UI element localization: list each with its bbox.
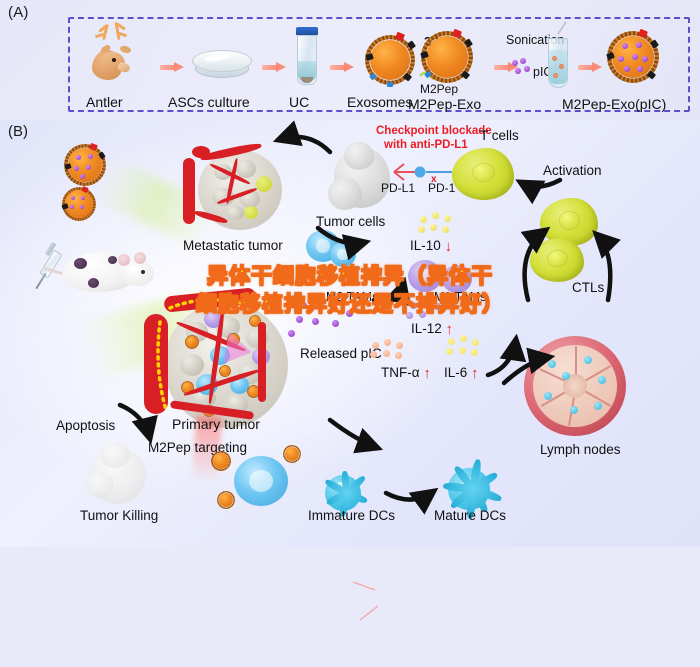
cytokine-dot — [422, 298, 429, 305]
ctl-cell — [530, 238, 584, 282]
exosome-particle — [362, 32, 418, 88]
metastatic-tumor-label: Metastatic tumor — [183, 238, 283, 254]
pic-released-dot — [330, 304, 337, 311]
tumor-cells-cluster — [344, 142, 374, 170]
tumor-cells-cluster — [328, 178, 362, 210]
cytokine-dot — [434, 303, 441, 310]
il-12-up-arrow: ↑ — [446, 321, 454, 338]
centrifuge-tube — [296, 27, 318, 87]
deer-illustration — [82, 22, 152, 84]
m2-tam-cell — [330, 242, 356, 267]
targeting-exosome — [210, 450, 232, 472]
pd-1-label: PD-1 — [428, 182, 455, 196]
pic-dot — [520, 58, 526, 64]
step-label-m2pep-exo-pic: M2Pep-Exo(pIC) — [562, 96, 666, 112]
cytokine-dot — [420, 216, 427, 223]
il-10-down-arrow: ↓ — [445, 238, 453, 255]
step-label-antler: Antler — [86, 94, 123, 110]
primary-tumor-label: Primary tumor — [172, 416, 260, 432]
immature-dcs-label: Immature DCs — [308, 508, 395, 524]
il-10-label: IL-10 ↓ — [410, 237, 452, 254]
tnf-alpha-label: TNF-α ↑ — [381, 364, 431, 381]
il-6-label: IL-6 ↑ — [444, 364, 479, 381]
cytokine-dot — [471, 349, 478, 356]
figure-root: (A) — [0, 0, 700, 547]
il-10-text: IL-10 — [410, 238, 441, 253]
pic-dot — [515, 68, 521, 74]
pd-l1-label: PD-L1 — [381, 182, 415, 196]
m2pep-exosome-particle — [418, 28, 476, 86]
lymph-node — [524, 336, 626, 436]
pic-released-dot — [300, 302, 307, 309]
exosome-particle-free — [60, 185, 98, 223]
pic-dot — [524, 66, 530, 72]
apoptosis-label: Apoptosis — [56, 418, 115, 434]
cytokine-dot — [406, 312, 413, 319]
t-cell — [452, 148, 514, 200]
m2-tams-label: M2 TAMs — [326, 290, 378, 304]
step-label-uc: UC — [289, 94, 309, 110]
panel-a: (A) — [0, 0, 700, 120]
tnf-alpha-up-arrow: ↑ — [423, 365, 431, 382]
t-cells-label: T cells — [480, 128, 519, 144]
pic-dot — [512, 60, 518, 66]
process-arrow-3 — [330, 62, 354, 73]
process-arrow-1 — [160, 62, 184, 73]
cytokine-dot — [446, 348, 453, 355]
m1-tam-cell — [408, 260, 442, 292]
step-label-ascs-culture: ASCs culture — [168, 94, 250, 110]
mature-dcs-label: Mature DCs — [434, 508, 506, 524]
targeted-macrophage — [234, 456, 288, 506]
cytokine-dot — [430, 224, 437, 231]
m2pep-exosome-pic-particle — [604, 28, 662, 86]
cytokine-dot — [448, 338, 455, 345]
targeting-exosome — [216, 490, 236, 510]
tumor-killing-label: Tumor Killing — [80, 508, 158, 524]
m2pep-targeting-label: M2Pep targeting — [148, 440, 247, 456]
cytokine-dot — [460, 335, 467, 342]
checkpoint-blockade-line2: with anti-PD-L1 — [384, 139, 468, 152]
lymph-nodes-label: Lymph nodes — [540, 442, 621, 458]
cytokine-dot — [383, 350, 390, 357]
m1-tams-label: M1 TAMs — [434, 290, 486, 304]
tnf-alpha-text: TNF-α — [381, 365, 420, 380]
il-6-up-arrow: ↑ — [471, 365, 479, 382]
pic-released-dot — [312, 318, 319, 325]
sonication-tube — [547, 30, 569, 88]
panel-b: (B) — [0, 120, 700, 547]
checkpoint-blockade-line1: Checkpoint blockade — [376, 125, 492, 138]
panel-a-label: (A) — [8, 4, 29, 21]
petri-dish — [192, 50, 252, 80]
pic-released-dot — [346, 310, 353, 317]
cytokine-dot — [459, 347, 466, 354]
metastatic-tumor — [178, 142, 290, 238]
cytokine-dot — [372, 342, 379, 349]
panel-b-label: (B) — [8, 123, 28, 140]
pic-released-dot — [316, 296, 323, 303]
cytokine-dot — [410, 302, 417, 309]
ctls-label: CTLs — [572, 280, 604, 296]
cytokine-dot — [370, 351, 377, 358]
cytokine-dot — [444, 215, 451, 222]
step-label-exosomes: Exosomes — [347, 94, 412, 110]
activation-label: Activation — [543, 163, 602, 179]
process-arrow-6 — [578, 62, 602, 73]
m1-tam-cell — [442, 265, 472, 293]
il-12-text: IL-12 — [411, 321, 442, 336]
tumor-cells-label: Tumor cells — [316, 214, 385, 230]
cytokine-dot — [419, 311, 426, 318]
process-arrow-2 — [262, 62, 286, 73]
exosome-particle-free — [62, 142, 108, 188]
cytokine-dot — [472, 339, 479, 346]
targeting-exosome — [282, 444, 302, 464]
il-12-label: IL-12 ↑ — [411, 320, 453, 337]
pic-released-dot — [332, 320, 339, 327]
targeting-cone — [223, 332, 254, 368]
cytokine-dot — [418, 226, 425, 233]
cytokine-dot — [442, 226, 449, 233]
step-label-m2pep-exo: M2Pep-Exo — [408, 96, 481, 112]
cytokine-dot — [432, 212, 439, 219]
cytokine-dot — [395, 352, 402, 359]
cytokine-dot — [384, 339, 391, 346]
cytokine-dot — [396, 342, 403, 349]
il-6-text: IL-6 — [444, 365, 467, 380]
